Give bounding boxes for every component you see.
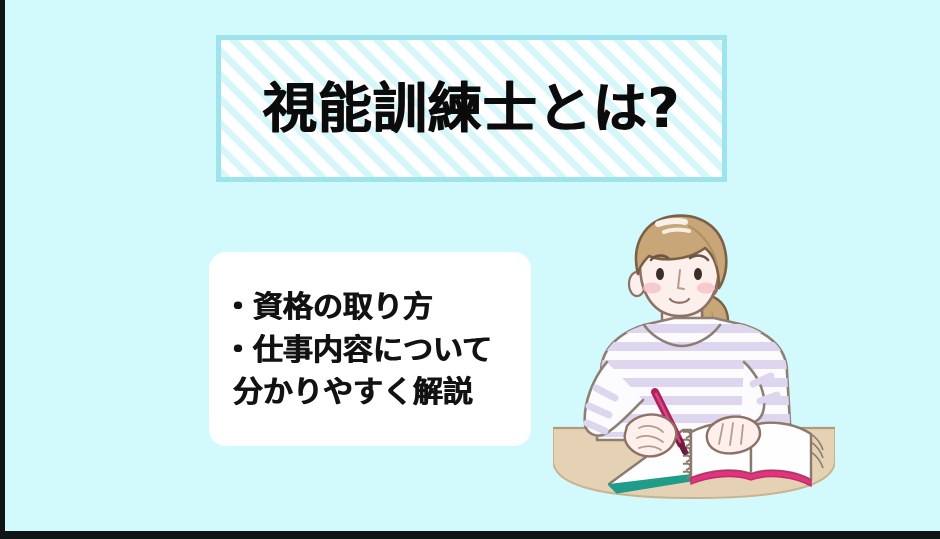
woman-writing-illustration bbox=[539, 212, 845, 502]
bullet-line-2: ・仕事内容について bbox=[223, 330, 515, 373]
slide-canvas: 視能訓練士とは? ・資格の取り方 ・仕事内容について 分かりやすく解説 bbox=[5, 0, 940, 531]
bullet-callout-box: ・資格の取り方 ・仕事内容について 分かりやすく解説 bbox=[209, 252, 531, 446]
bullet-line-3: 分かりやすく解説 bbox=[223, 372, 515, 415]
eye-left bbox=[656, 268, 664, 280]
eye-right bbox=[694, 268, 702, 280]
resting-hand-shape bbox=[707, 417, 760, 454]
writing-hand-shape bbox=[625, 414, 676, 456]
bullet-line-1: ・資格の取り方 bbox=[223, 287, 515, 330]
title-banner: 視能訓練士とは? bbox=[216, 35, 727, 182]
slide-root: 視能訓練士とは? ・資格の取り方 ・仕事内容について 分かりやすく解説 bbox=[0, 0, 940, 539]
page-title: 視能訓練士とは? bbox=[263, 82, 680, 136]
